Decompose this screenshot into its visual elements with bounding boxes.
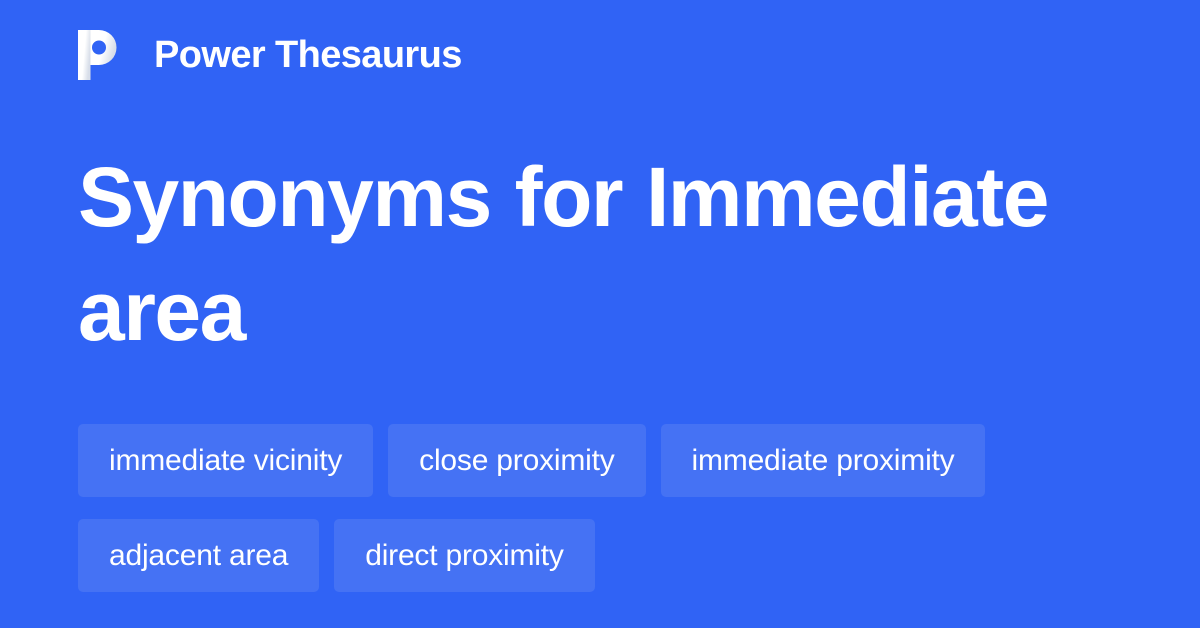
synonym-tag[interactable]: close proximity (388, 424, 645, 497)
power-thesaurus-b-logo-icon (78, 30, 124, 80)
brand-lockup[interactable]: Power Thesaurus (78, 28, 462, 82)
synonym-tag[interactable]: immediate proximity (661, 424, 986, 497)
synonym-tag-list: immediate vicinity close proximity immed… (78, 424, 1128, 592)
brand-name: Power Thesaurus (154, 36, 462, 74)
synonym-tag[interactable]: immediate vicinity (78, 424, 373, 497)
synonym-tag[interactable]: direct proximity (334, 519, 595, 592)
synonym-tag[interactable]: adjacent area (78, 519, 319, 592)
page-title: Synonyms for Immediate area (78, 140, 1118, 368)
